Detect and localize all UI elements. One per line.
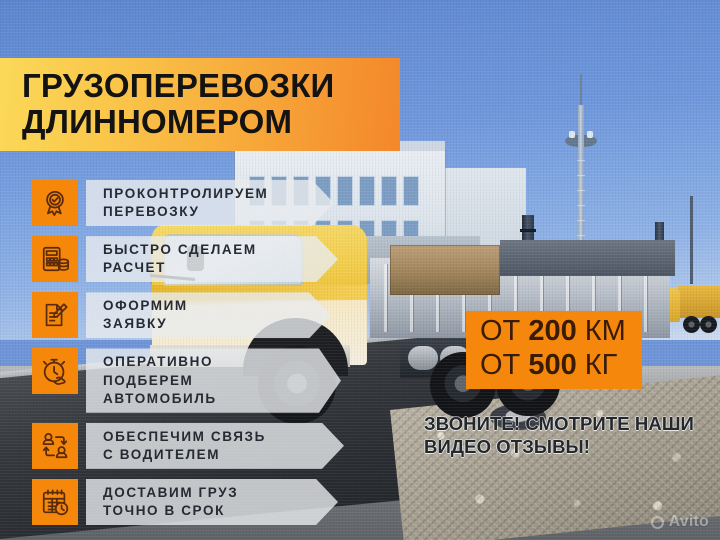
min-weight-unit: КГ	[577, 349, 618, 381]
feature-label: БЫСТРО СДЕЛАЕМ РАСЧЕТ	[86, 236, 338, 282]
price-conditions-badge: ОТ 200 КМ ОТ 500 КГ	[466, 311, 642, 389]
cargo-timber-crate	[390, 245, 500, 295]
headline-line-1: ГРУЗОПЕРЕВОЗКИ	[22, 68, 400, 104]
min-weight-line: ОТ 500 КГ	[480, 349, 626, 383]
mast-spire	[580, 74, 582, 108]
advertisement-banner: ГРУЗОПЕРЕВОЗКИ ДЛИННОМЕРОМ ПРОКОНТРОЛИРУ…	[0, 0, 720, 540]
feature-item-on-time-delivery: ДОСТАВИМ ГРУЗ ТОЧНО В СРОК	[32, 479, 344, 525]
mast-lamp	[569, 131, 575, 138]
headline-line-2: ДЛИННОМЕРОМ	[22, 104, 400, 140]
min-distance-unit: КМ	[577, 315, 626, 347]
cta-line-1: ЗВОНИТЕ! СМОТРИТЕ НАШИ	[424, 412, 712, 435]
cargo-metal	[500, 240, 675, 276]
feature-label: ОБЕСПЕЧИМ СВЯЗЬ С ВОДИТЕЛЕМ	[86, 423, 344, 469]
avito-logo-icon	[651, 516, 664, 529]
second-truck-bed	[678, 286, 720, 318]
calendar-clock-icon	[32, 479, 78, 525]
calculator-icon	[32, 236, 78, 282]
contacts-exchange-icon	[32, 423, 78, 469]
feature-line: РАСЧЕТ	[103, 259, 298, 277]
feature-line: ПЕРЕВОЗКУ	[103, 203, 294, 221]
min-distance-value: 200	[528, 315, 576, 347]
feature-item-driver-contact: ОБЕСПЕЧИМ СВЯЗЬ С ВОДИТЕЛЕМ	[32, 423, 344, 469]
feature-line: БЫСТРО СДЕЛАЕМ	[103, 241, 298, 259]
feature-line: ОБЕСПЕЧИМ СВЯЗЬ	[103, 428, 304, 446]
fuel-tank	[408, 346, 438, 370]
feature-line: ТОЧНО В СРОК	[103, 502, 298, 520]
feature-line: ОПЕРАТИВНО	[103, 353, 301, 371]
feature-item-process-order: ОФОРМИМ ЗАЯВКУ	[32, 292, 344, 338]
pole	[690, 196, 693, 284]
min-weight-value: 500	[528, 349, 576, 381]
feature-line: ДОСТАВИМ ГРУЗ	[103, 484, 298, 502]
feature-item-fast-quote: БЫСТРО СДЕЛАЕМ РАСЧЕТ	[32, 236, 344, 282]
watermark-text: Avito	[669, 513, 709, 531]
min-weight-prefix: ОТ	[480, 349, 528, 381]
award-badge-icon	[32, 180, 78, 226]
cta-line-2: ВИДЕО ОТЗЫВЫ!	[424, 435, 712, 458]
feature-line: С ВОДИТЕЛЕМ	[103, 446, 304, 464]
min-distance-prefix: ОТ	[480, 315, 528, 347]
feature-line: ПОДБЕРЕМ	[103, 372, 301, 390]
feature-label: ОФОРМИМ ЗАЯВКУ	[86, 292, 331, 338]
feature-line: ПРОКОНТРОЛИРУЕМ	[103, 185, 294, 203]
document-pencil-icon	[32, 292, 78, 338]
feature-item-quick-vehicle: ОПЕРАТИВНО ПОДБЕРЕМ АВТОМОБИЛЬ	[32, 348, 344, 412]
feature-line: ЗАЯВКУ	[103, 315, 291, 333]
feature-list: ПРОКОНТРОЛИРУЕМ ПЕРЕВОЗКУ БЫСТРО СДЕЛАЕМ…	[32, 180, 344, 525]
feature-item-control-shipment: ПРОКОНТРОЛИРУЕМ ПЕРЕВОЗКУ	[32, 180, 344, 226]
headline-banner: ГРУЗОПЕРЕВОЗКИ ДЛИННОМЕРОМ	[0, 58, 400, 151]
stopwatch-hand-icon	[32, 348, 78, 394]
mast-lamp	[587, 131, 593, 138]
feature-label: ОПЕРАТИВНО ПОДБЕРЕМ АВТОМОБИЛЬ	[86, 348, 341, 412]
feature-label: ДОСТАВИМ ГРУЗ ТОЧНО В СРОК	[86, 479, 338, 525]
feature-line: ОФОРМИМ	[103, 297, 291, 315]
min-distance-line: ОТ 200 КМ	[480, 315, 626, 349]
feature-label: ПРОКОНТРОЛИРУЕМ ПЕРЕВОЗКУ	[86, 180, 334, 226]
feature-line: АВТОМОБИЛЬ	[103, 390, 301, 408]
call-to-action: ЗВОНИТЕ! СМОТРИТЕ НАШИ ВИДЕО ОТЗЫВЫ!	[424, 412, 712, 458]
avito-watermark: Avito	[651, 513, 709, 531]
